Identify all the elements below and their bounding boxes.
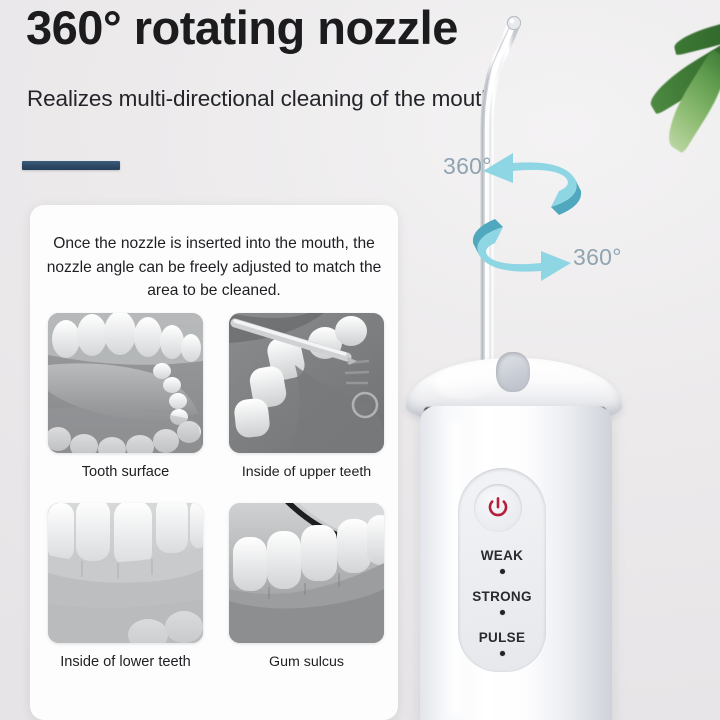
- thumbnail-item[interactable]: Inside of upper teeth: [229, 313, 384, 480]
- thumbnail-item[interactable]: Gum sulcus: [229, 503, 384, 670]
- rotation-label-bottom: 360°: [573, 244, 622, 271]
- water-flosser-device: WEAK STRONG PULSE: [400, 0, 650, 720]
- nozzle-socket: [496, 352, 530, 392]
- mode-label: WEAK: [458, 548, 546, 563]
- mode-strong[interactable]: STRONG: [458, 589, 546, 615]
- accent-bar: [22, 161, 120, 170]
- mode-label: STRONG: [458, 589, 546, 604]
- product-marketing-image: 360° rotating nozzle Realizes multi-dire…: [0, 0, 720, 720]
- led-dot-icon: [500, 610, 505, 615]
- mode-weak[interactable]: WEAK: [458, 548, 546, 574]
- thumbnail-caption: Inside of upper teeth: [229, 464, 384, 480]
- nozzle-upper-teeth-photo: [229, 313, 384, 453]
- power-button[interactable]: [474, 484, 522, 532]
- led-dot-icon: [500, 569, 505, 574]
- lower-teeth-inside-photo: [48, 503, 203, 643]
- thumbnail-caption: Tooth surface: [48, 464, 203, 480]
- cap-highlight: [434, 366, 498, 400]
- rotation-label-top: 360°: [443, 153, 492, 180]
- mode-label: PULSE: [458, 630, 546, 645]
- thumbnail-caption: Gum sulcus: [229, 654, 384, 670]
- card-description: Once the nozzle is inserted into the mou…: [46, 232, 382, 303]
- thumbnail-caption: Inside of lower teeth: [48, 654, 203, 670]
- thumbnail-item[interactable]: Tooth surface: [48, 313, 203, 480]
- led-dot-icon: [500, 651, 505, 656]
- mode-pulse[interactable]: PULSE: [458, 630, 546, 656]
- gum-sulcus-photo: [229, 503, 384, 643]
- thumbnail-item[interactable]: Inside of lower teeth: [48, 503, 203, 670]
- teeth-open-bite-photo: [48, 313, 203, 453]
- page-title: 360° rotating nozzle: [26, 2, 458, 55]
- green-leaves-icon: [640, 42, 720, 232]
